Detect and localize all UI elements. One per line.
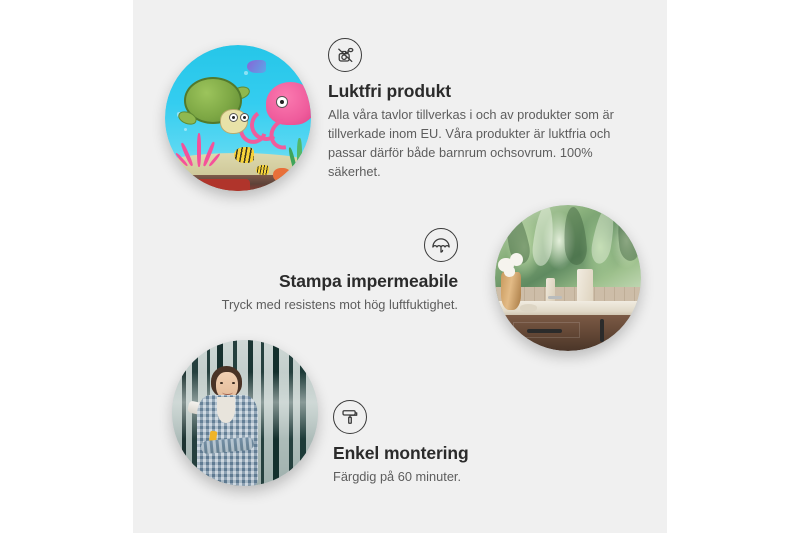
feature-description: Tryck med resistens mot hög luftfuktighe… xyxy=(218,296,458,315)
paint-roller-icon xyxy=(333,400,367,434)
flower-vase xyxy=(501,272,521,310)
no-fragrance-bottle-icon xyxy=(328,38,362,72)
faucet xyxy=(548,296,563,300)
bathroom-wallpaper-circle xyxy=(495,205,641,351)
soap-dish xyxy=(520,304,538,311)
seaweed xyxy=(297,138,302,173)
feature-waterproof: Stampa impermeabile Tryck med resistens … xyxy=(218,228,458,315)
soap-dispenser xyxy=(546,278,555,304)
yellow-striped-fish xyxy=(256,165,269,175)
white-flower xyxy=(510,253,523,266)
feature-description: Färgdig på 60 minuter. xyxy=(333,468,593,487)
purple-fish xyxy=(247,60,266,73)
white-flower xyxy=(504,266,516,276)
feature-odourless: Luktfri produkt Alla våra tavlor tillver… xyxy=(328,38,628,181)
drawer-handle xyxy=(527,329,562,333)
starfish xyxy=(273,168,291,183)
underwater-cartoon-circle xyxy=(165,45,311,191)
feature-title: Luktfri produkt xyxy=(328,81,628,101)
bubble-icon xyxy=(244,71,248,75)
feature-title: Stampa impermeabile xyxy=(218,271,458,291)
sea-floor-rock xyxy=(191,179,249,191)
product-features-page: Luktfri produkt Alla våra tavlor tillver… xyxy=(0,0,800,533)
cabinet-handle xyxy=(600,319,604,342)
feature-description: Alla våra tavlor tillverkas i och av pro… xyxy=(328,106,628,181)
feature-easy-mounting: Enkel montering Färgdig på 60 minuter. xyxy=(333,400,593,487)
octopus-eye xyxy=(276,96,288,108)
yellow-striped-fish xyxy=(234,147,254,163)
pink-coral xyxy=(180,133,221,171)
painter-woman-circle xyxy=(172,340,318,486)
umbrella-icon xyxy=(424,228,458,262)
feature-title: Enkel montering xyxy=(333,443,593,463)
woman-eye xyxy=(232,382,235,384)
woman-smile xyxy=(222,390,232,395)
shirt-collar xyxy=(217,397,235,423)
